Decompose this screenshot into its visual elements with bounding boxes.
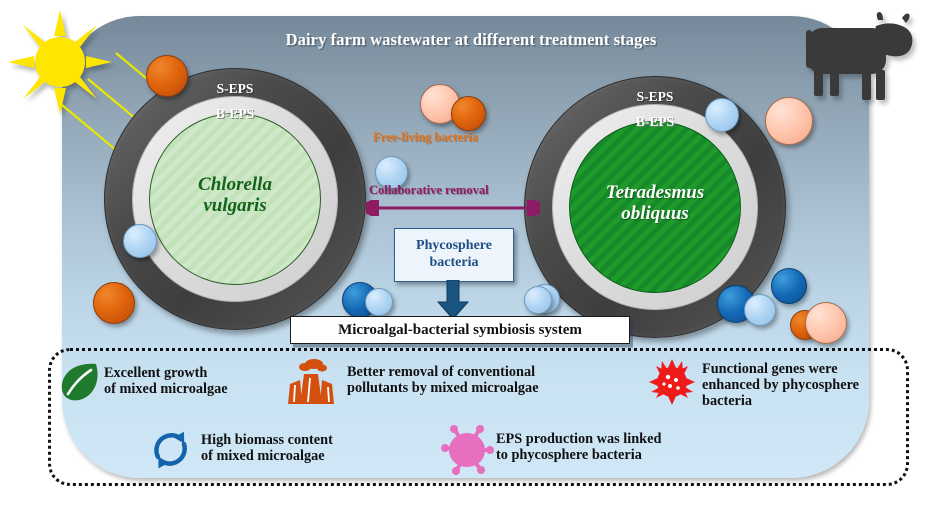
finding-text: EPS production was linked to phycosphere… bbox=[494, 424, 661, 463]
phycosphere-line1: Phycosphere bbox=[416, 238, 492, 253]
bacteria-dot bbox=[705, 98, 739, 132]
bacteria-dot bbox=[146, 55, 188, 97]
b-eps-label-left: B-EPS bbox=[104, 106, 366, 122]
finding-item-better-removal: Better removal of conventional pollutant… bbox=[288, 358, 539, 413]
bacteria-dot bbox=[744, 294, 776, 326]
double-headed-arrow-icon bbox=[366, 200, 540, 221]
bacteria-dot bbox=[765, 97, 813, 145]
finding-item-high-biomass: High biomass content of mixed microalgae bbox=[148, 427, 333, 478]
chlorella-name-line1: Chlorella bbox=[104, 174, 366, 195]
chlorella-name: Chlorella vulgaris bbox=[104, 174, 366, 217]
free-living-bacteria-label: Free-living bacteria bbox=[373, 130, 478, 145]
finding-text: High biomass content of mixed microalgae bbox=[194, 427, 333, 464]
bacteria-dot bbox=[93, 282, 135, 324]
finding-text: Better removal of conventional pollutant… bbox=[340, 358, 539, 396]
phycosphere-bacteria-label: Phycosphere bacteria bbox=[416, 238, 492, 272]
symbiosis-system-box[interactable]: Microalgal-bacterial symbiosis system bbox=[290, 316, 630, 344]
finding-item-eps-production: EPS production was linked to phycosphere… bbox=[440, 424, 661, 481]
s-eps-label-left: S-EPS bbox=[104, 81, 366, 97]
bacteria-dot bbox=[524, 286, 552, 314]
finding-item-excellent-growth: Excellent growth of mixed microalgae bbox=[58, 360, 228, 409]
finding-text: Functional genes were enhanced by phycos… bbox=[696, 358, 859, 409]
tetradesmus-name-line1: Tetradesmus bbox=[524, 182, 786, 203]
pink-virus-icon bbox=[440, 424, 494, 481]
phycosphere-line2: bacteria bbox=[430, 255, 479, 270]
algae-cell-chlorella: S-EPS B-EPS Chlorella vulgaris bbox=[104, 68, 366, 330]
bacteria-dot bbox=[771, 268, 807, 304]
symbiosis-system-label: Microalgal-bacterial symbiosis system bbox=[338, 322, 582, 339]
factory-icon bbox=[288, 358, 340, 413]
red-bacteria-icon bbox=[648, 358, 696, 411]
bacteria-dot bbox=[365, 288, 393, 316]
bacteria-dot bbox=[805, 302, 847, 344]
collaborative-removal-label: Collaborative removal bbox=[369, 183, 489, 198]
tetradesmus-name-line2: obliquus bbox=[524, 203, 786, 224]
graphical-abstract: Dairy farm wastewater at different treat… bbox=[0, 0, 942, 506]
finding-item-functional-genes: Functional genes were enhanced by phycos… bbox=[648, 358, 859, 411]
tetradesmus-name: Tetradesmus obliquus bbox=[524, 182, 786, 225]
bacteria-dot bbox=[451, 96, 486, 131]
cow-silhouette-icon bbox=[786, 12, 918, 102]
b-eps-label-right: B-EPS bbox=[524, 114, 786, 130]
s-eps-label-right: S-EPS bbox=[524, 89, 786, 105]
phycosphere-bacteria-box[interactable]: Phycosphere bacteria bbox=[394, 228, 514, 282]
bacteria-dot bbox=[123, 224, 157, 258]
leaf-icon bbox=[58, 360, 100, 409]
finding-text: Excellent growth of mixed microalgae bbox=[100, 360, 228, 397]
chlorella-name-line2: vulgaris bbox=[104, 195, 366, 216]
recycle-arrows-icon bbox=[148, 427, 194, 478]
